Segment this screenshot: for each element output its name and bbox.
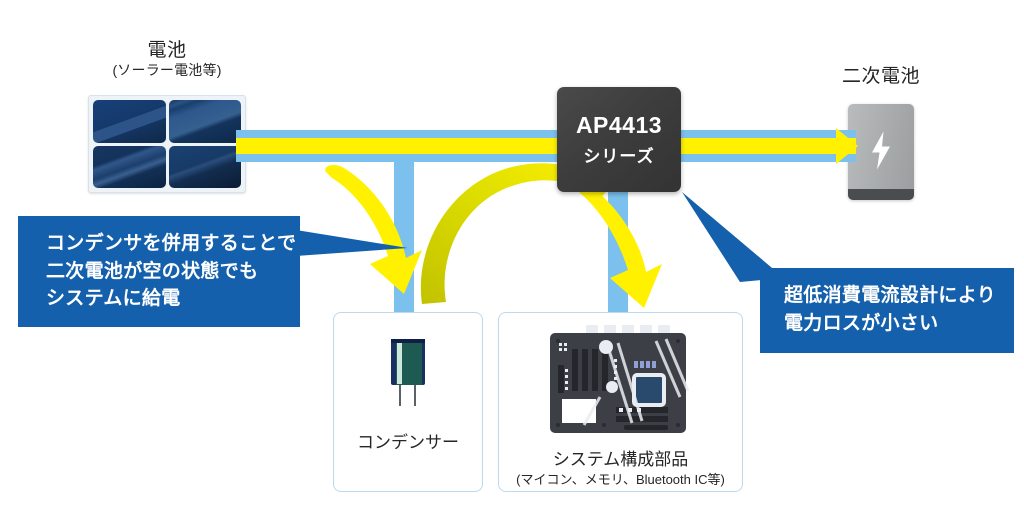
system-caption-main: システム構成部品	[516, 450, 725, 470]
source-label-sub: (ソーラー電池等)	[88, 62, 246, 79]
main-bus-arrowhead	[812, 126, 862, 166]
battery-base	[848, 189, 914, 200]
capacitor-icon	[381, 337, 435, 407]
solar-cell	[169, 100, 242, 143]
callout-left-line-1: コンデンサを併用することで	[46, 230, 300, 258]
solar-cell	[93, 146, 166, 189]
component-box-system[interactable]: システム構成部品 (マイコン、メモリ、Bluetooth IC等)	[498, 312, 743, 492]
source-label-main: 電池	[88, 40, 246, 62]
solar-cell	[93, 100, 166, 143]
callout-left: コンデンサを併用することで 二次電池が空の状態でも システムに給電	[18, 216, 300, 327]
chip-name: AP4413	[576, 112, 662, 139]
chip-series: シリーズ	[583, 142, 654, 167]
arrow-to-system	[556, 176, 686, 312]
callout-left-line-2: 二次電池が空の状態でも	[46, 258, 300, 286]
callout-right-line-2: 電力ロスが小さい	[784, 310, 1014, 338]
system-caption: システム構成部品 (マイコン、メモリ、Bluetooth IC等)	[516, 450, 725, 489]
callout-right: 超低消費電流設計により 電力ロスが小さい	[760, 268, 1014, 353]
system-caption-sub: (マイコン、メモリ、Bluetooth IC等)	[516, 472, 725, 488]
bolt-glyph	[869, 131, 893, 169]
ic-chip-icon: AP4413 シリーズ	[557, 87, 681, 192]
diagram-canvas: 電池 (ソーラー電池等) 二次電池	[0, 0, 1024, 515]
solar-cell	[169, 146, 242, 189]
source-label: 電池 (ソーラー電池等)	[88, 40, 246, 79]
callout-left-line-3: システムに給電	[46, 285, 300, 313]
callout-left-pointer	[296, 226, 416, 266]
capacitor-caption: コンデンサー	[357, 433, 459, 453]
callout-right-line-1: 超低消費電流設計により	[784, 282, 1014, 310]
pcb-board-icon	[546, 325, 696, 442]
component-box-capacitor[interactable]: コンデンサー	[333, 312, 483, 492]
destination-label: 二次電池	[818, 66, 944, 88]
capacitor-caption-main: コンデンサー	[357, 433, 459, 453]
solar-panel-icon	[88, 95, 246, 193]
destination-label-main: 二次電池	[818, 66, 944, 88]
